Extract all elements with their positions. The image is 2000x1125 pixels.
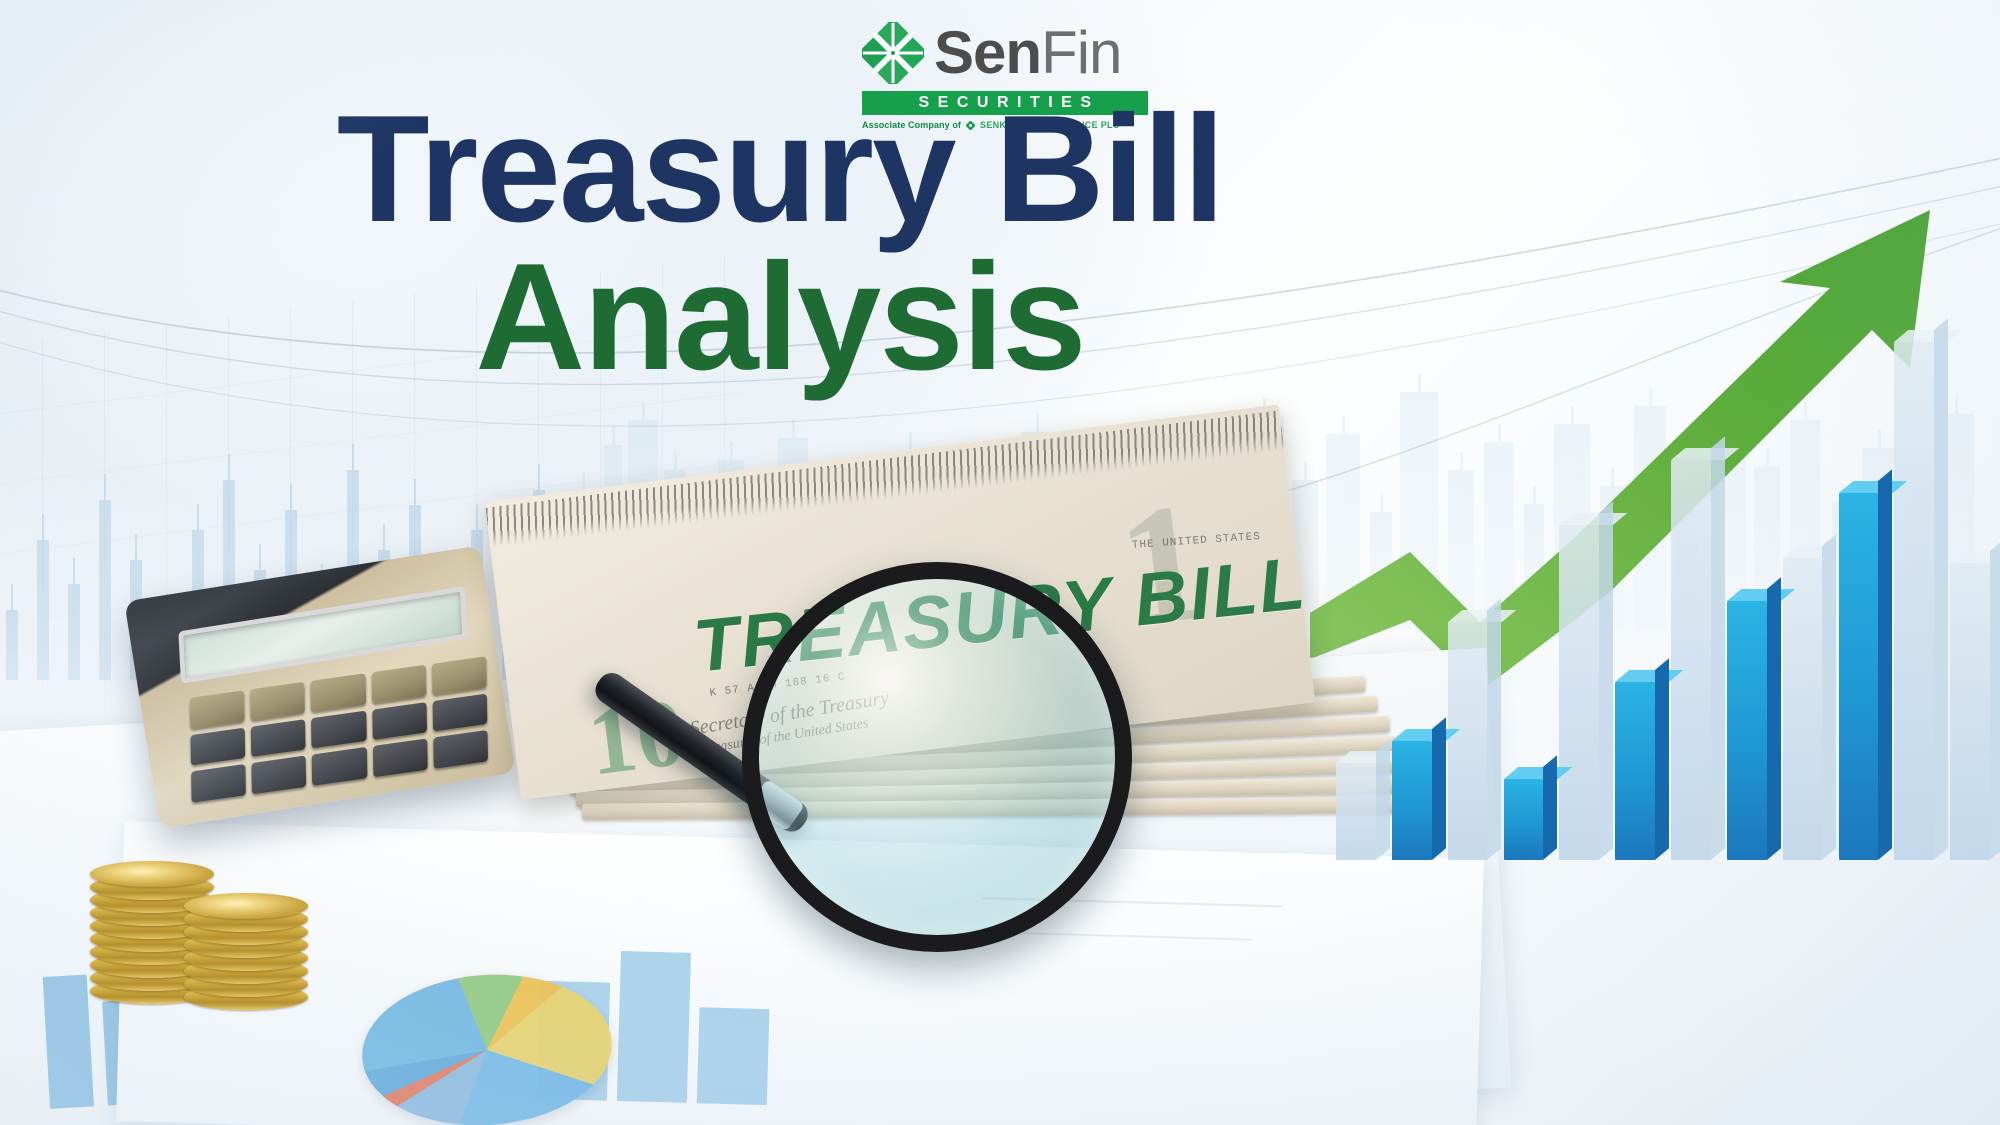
logo-wordmark: SenFin	[934, 24, 1121, 82]
logo-word-sen: Sen	[934, 19, 1041, 86]
calculator-key[interactable]	[432, 656, 487, 695]
chart-bar	[1615, 682, 1655, 860]
coin	[184, 893, 308, 919]
magnifier-lens	[742, 562, 1132, 952]
calculator-key[interactable]	[372, 702, 427, 741]
chart-bar	[1448, 622, 1488, 860]
chart-bar	[1336, 763, 1376, 860]
coin-stack-right	[184, 882, 308, 1010]
gold-coin-stacks	[80, 830, 330, 1010]
calculator-key[interactable]	[371, 665, 426, 704]
calculator-key[interactable]	[432, 693, 487, 732]
candlestick	[37, 540, 49, 680]
logo-primary-row: SenFin	[862, 16, 1121, 90]
chart-bar	[1727, 601, 1767, 860]
calculator-key[interactable]	[190, 727, 245, 766]
chart-bar	[1950, 563, 1990, 860]
chart-bar	[1783, 558, 1823, 860]
chart-bar	[1504, 779, 1544, 860]
chart-bar	[1559, 525, 1599, 860]
calculator-key[interactable]	[250, 682, 305, 721]
chart-bar	[1894, 342, 1934, 860]
chart-bar	[1671, 460, 1711, 860]
diamond-compass-mark-icon	[862, 22, 924, 84]
candlestick	[99, 500, 111, 680]
chart-bar	[1392, 741, 1432, 860]
candlestick	[68, 584, 80, 680]
poster-canvas: SenFin SECURITIES Associate Company of S…	[0, 0, 2000, 1125]
candlestick	[6, 610, 18, 680]
calculator-key[interactable]	[190, 690, 245, 729]
calculator-key[interactable]	[251, 719, 306, 758]
logo-word-fin: Fin	[1041, 19, 1121, 86]
chart-bar	[1839, 493, 1879, 860]
coin	[90, 861, 214, 887]
calculator-key[interactable]	[311, 710, 366, 749]
magnifying-glass[interactable]	[742, 562, 1132, 952]
calculator-key[interactable]	[311, 673, 366, 712]
